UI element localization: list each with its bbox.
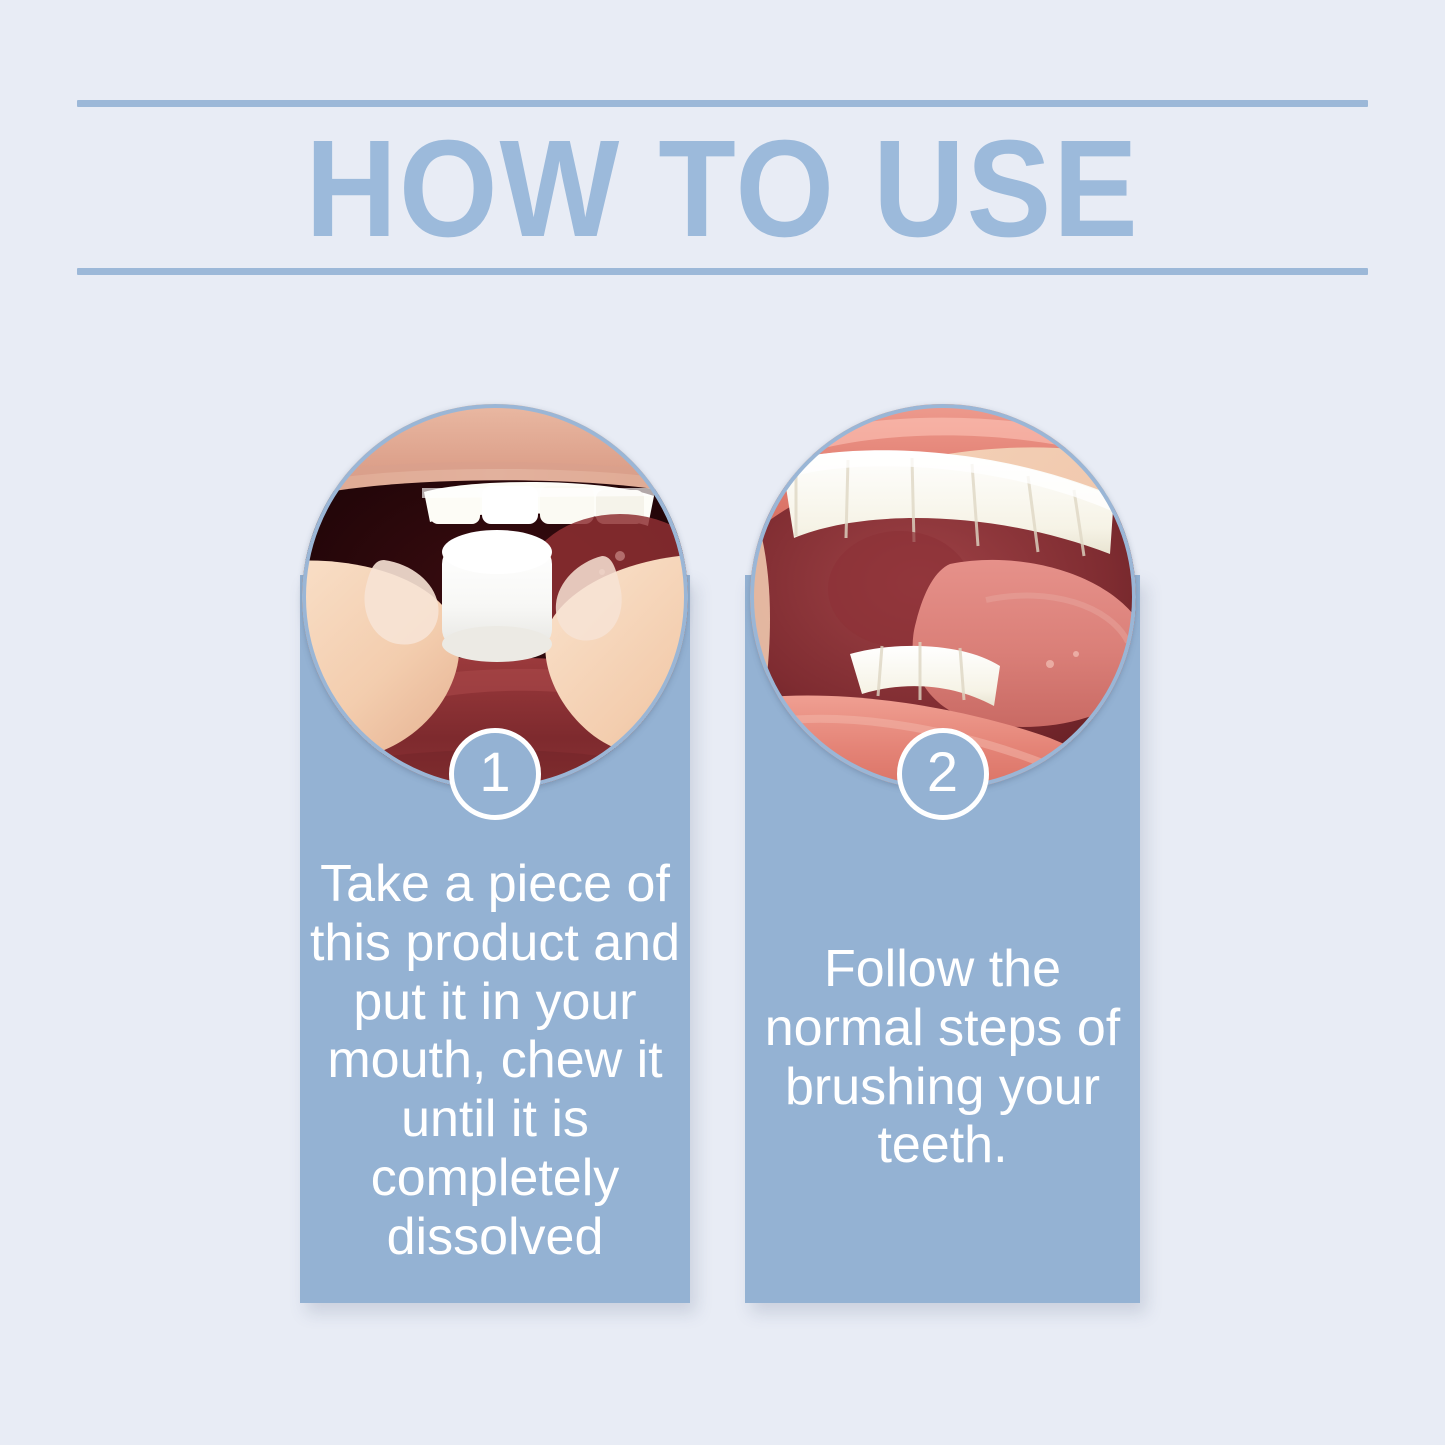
step-number-2: 2: [927, 744, 958, 800]
step-number-1: 1: [479, 744, 510, 800]
steps-container: 1 Take a piece of this product and put i…: [0, 0, 1445, 1445]
step-caption-1: Take a piece of this product and put it …: [308, 855, 682, 1266]
step-card-1: 1 Take a piece of this product and put i…: [300, 575, 690, 1303]
infographic-canvas: HOW TO USE: [0, 0, 1445, 1445]
step-caption-2: Follow the normal steps of brushing your…: [753, 940, 1132, 1175]
step-card-2: 2 Follow the normal steps of brushing yo…: [745, 575, 1140, 1303]
step-number-badge-2: 2: [897, 728, 989, 820]
step-number-badge-1: 1: [449, 728, 541, 820]
